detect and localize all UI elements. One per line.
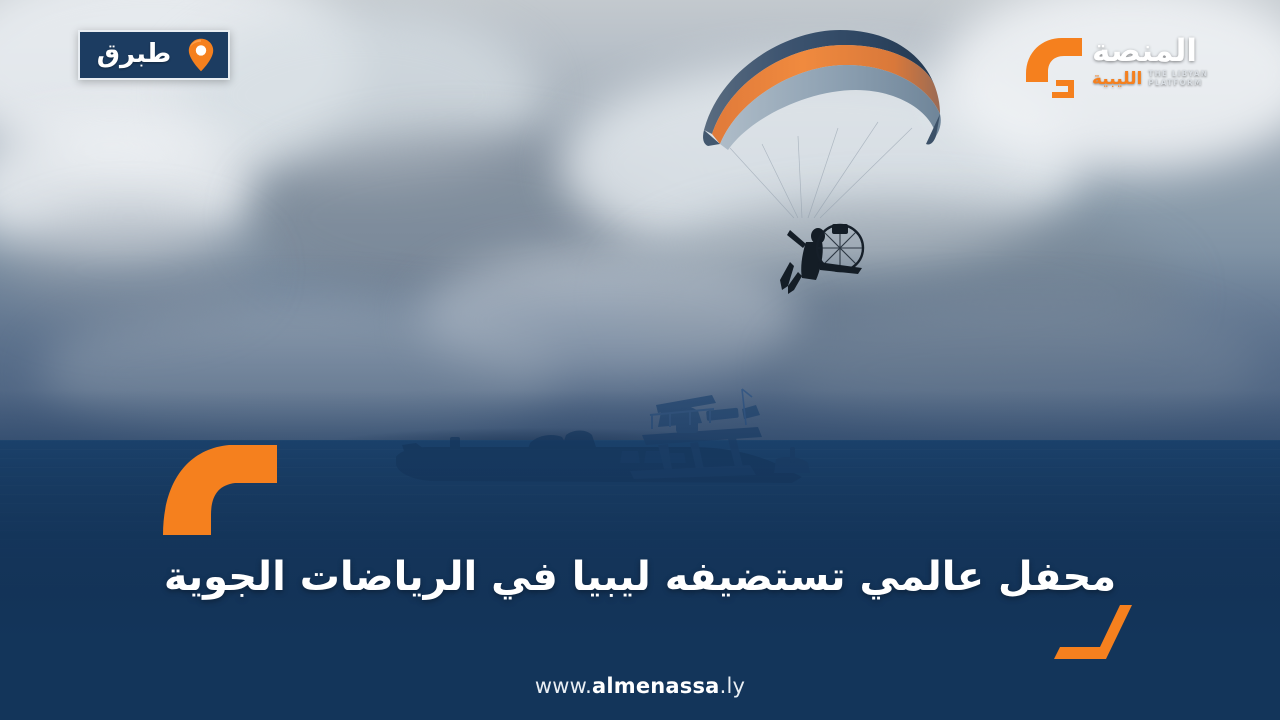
map-pin-icon [188,38,214,72]
url-suffix: .ly [720,674,746,698]
almenassa-logo[interactable]: المنصة THE LIBYAN PLATFORM الليبية [1018,22,1218,102]
headline-text: محفل عالمي تستضيفه ليبيا في الرياضات الج… [0,552,1280,603]
logo-arabic-subtitle: الليبية [1092,71,1142,88]
logo-hook-mark [1018,24,1090,100]
orange-hook-bracket-large [157,437,282,537]
logo-sub-row: THE LIBYAN PLATFORM الليبية [1092,69,1208,89]
logo-latin-line1: THE LIBYAN [1148,69,1208,78]
location-label: طبرق [90,41,178,70]
logo-wordmark: المنصة THE LIBYAN PLATFORM الليبية [1092,36,1208,89]
paramotor-illustration [690,18,960,298]
url-prefix: www. [535,674,592,698]
location-badge: طبرق [78,30,230,80]
logo-arabic-name: المنصة [1092,36,1197,67]
orange-angle-bracket-small [1050,603,1135,665]
news-card: طبرق المنصة THE LIBYAN PLATFORM الليبية … [0,0,1280,720]
website-url[interactable]: www.almenassa.ly [0,674,1280,698]
logo-latin-line2: PLATFORM [1148,78,1202,87]
url-brand: almenassa [592,674,720,698]
logo-latin-text: THE LIBYAN PLATFORM [1148,69,1208,89]
